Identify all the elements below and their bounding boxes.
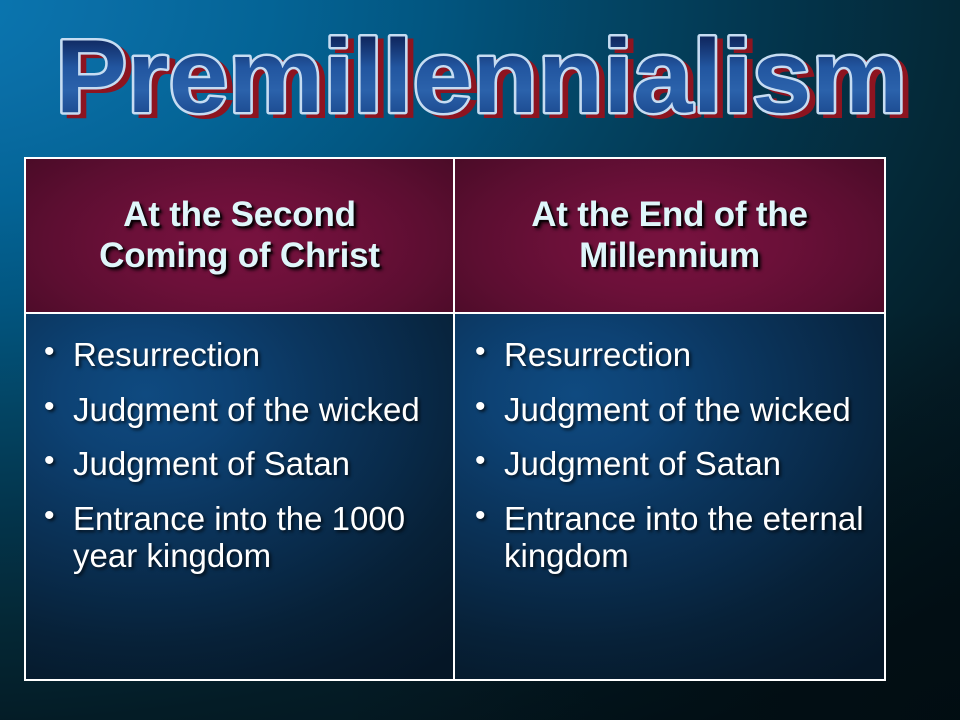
list-item: Judgment of the wicked	[469, 391, 874, 429]
comparison-table: At the Second Coming of Christ At the En…	[24, 157, 886, 681]
list-item: Judgment of Satan	[40, 445, 443, 483]
header-label-second-coming: At the Second Coming of Christ	[91, 195, 388, 276]
list-item: Judgment of the wicked	[40, 391, 443, 429]
body-cell-second-coming: Resurrection Judgment of the wicked Judg…	[26, 314, 455, 679]
list-item: Entrance into the 1000 year kingdom	[40, 500, 443, 575]
list-item: Judgment of Satan	[469, 445, 874, 483]
header-cell-second-coming: At the Second Coming of Christ	[26, 159, 455, 314]
table-body-row: Resurrection Judgment of the wicked Judg…	[26, 314, 884, 679]
header-label-end-of-millennium: At the End of the Millennium	[523, 195, 816, 276]
slide-title: Premillennialism Premillennialism Premil…	[0, 12, 960, 142]
title-fill-layer: Premillennialism	[55, 18, 906, 134]
table-header-row: At the Second Coming of Christ At the En…	[26, 159, 884, 314]
list-item: Resurrection	[40, 336, 443, 374]
list-item: Resurrection	[469, 336, 874, 374]
bullet-list-end-of-millennium: Resurrection Judgment of the wicked Judg…	[469, 336, 874, 575]
title-wordart: Premillennialism Premillennialism Premil…	[30, 12, 930, 142]
bullet-list-second-coming: Resurrection Judgment of the wicked Judg…	[40, 336, 443, 575]
list-item: Entrance into the eternal kingdom	[469, 500, 874, 575]
slide-canvas: Premillennialism Premillennialism Premil…	[0, 0, 960, 720]
body-cell-end-of-millennium: Resurrection Judgment of the wicked Judg…	[455, 314, 884, 679]
header-cell-end-of-millennium: At the End of the Millennium	[455, 159, 884, 314]
